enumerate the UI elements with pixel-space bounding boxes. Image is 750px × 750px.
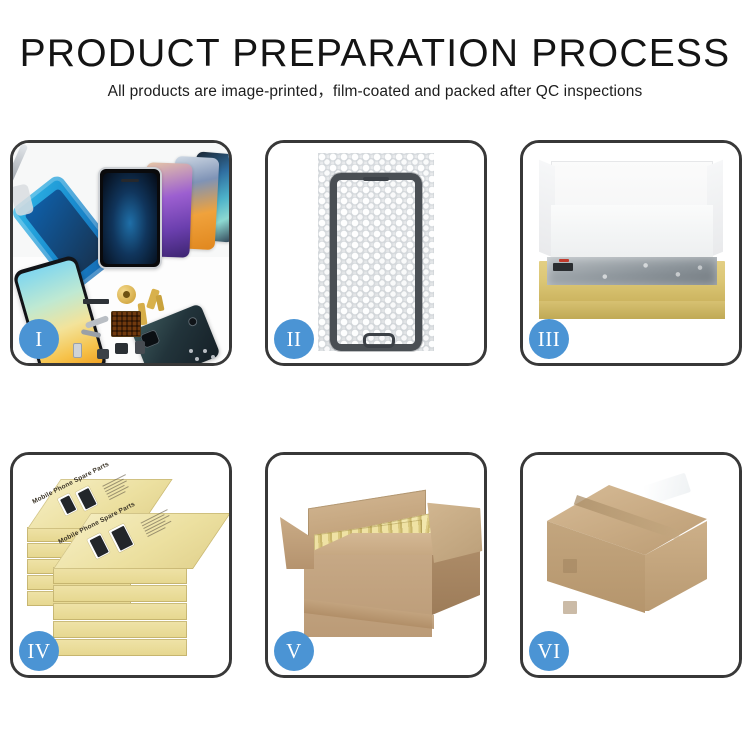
red-marking-icon [559,259,569,262]
screw-icon [203,349,207,353]
retail-box-edge [53,621,187,638]
retail-box-edge [53,603,187,620]
bubble-wrap-texture [318,153,434,351]
product-preparation-infographic: PRODUCT PREPARATION PROCESS All products… [0,0,750,750]
process-step-4: Mobile Phone Spare Parts Mobil [10,452,232,678]
process-step-6: VI [520,452,742,678]
screw-icon [211,355,215,359]
foam-insert-icon [551,205,713,263]
black-phone-screen-icon [98,167,162,269]
process-step-2: II [265,140,487,366]
step-badge-6: VI [529,631,569,671]
screw-icon [195,357,199,361]
chip-array-icon [111,311,141,337]
small-part-icon [97,349,109,359]
small-part-icon [115,343,128,354]
part-label-icon [553,263,573,271]
vibrator-part-icon [117,285,136,304]
small-part-icon [73,343,82,358]
small-part-icon [135,341,145,354]
step-badge-2: II [274,319,314,359]
process-step-3: III [520,140,742,366]
phone-glass-screen-icon [330,173,422,351]
step-badge-3: III [529,319,569,359]
tray-front-edge [539,301,725,319]
step-badge-1: I [19,319,59,359]
screw-icon [189,349,193,353]
carton-hand-hole [563,559,577,573]
process-step-grid: I II III [0,0,750,750]
wrapped-screen-icon [547,257,717,285]
retail-box-edge [53,567,187,584]
step-badge-4: IV [19,631,59,671]
step-badge-5: V [274,631,314,671]
retail-box-edge [53,585,187,602]
process-step-5: V [265,452,487,678]
process-step-1: I [10,140,232,366]
carton-hand-hole [563,601,577,614]
speaker-part-icon [83,299,109,304]
retail-box-edge [53,639,187,656]
